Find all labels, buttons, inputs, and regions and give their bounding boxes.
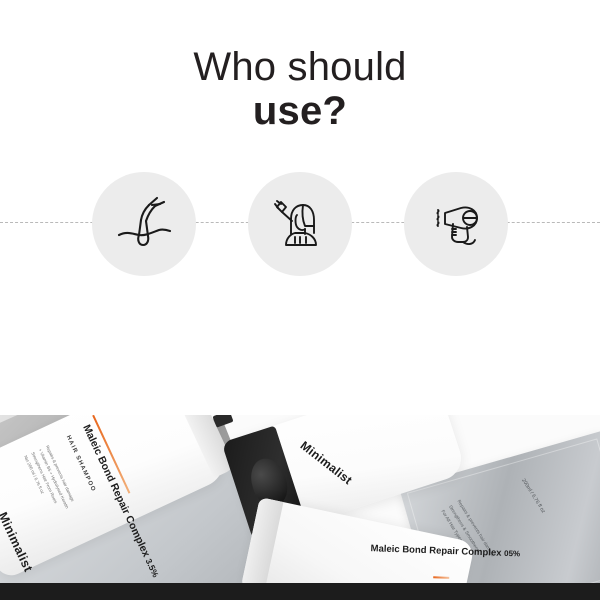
- content-panel: Who should use?: [0, 0, 600, 415]
- product-fine-print: Repairs & prevents hair damage + Vitamin…: [21, 444, 78, 517]
- page-title: Who should use?: [0, 46, 600, 132]
- page-title-line-2: use?: [0, 90, 600, 132]
- carton-size: 200ml / 6.76 fl oz: [520, 478, 546, 515]
- benefit-item-damaged-hair: looking to treat damaged & weakened hair: [64, 172, 224, 276]
- hair-colouring-woman-icon: [269, 193, 331, 255]
- hair-follicle-split-end-icon: [113, 193, 175, 255]
- brand-name: Minimalist: [0, 510, 35, 574]
- product-photo: Repairs & prevents hair damage Strengthe…: [0, 415, 600, 583]
- icon-bubble: [92, 172, 196, 276]
- hair-dryer-icon: [425, 193, 487, 255]
- label-accent-stripe: [433, 576, 449, 578]
- benefit-item-coloured-hair: have bleached, coloured or treated hair: [220, 172, 380, 276]
- brand-name: Minimalist: [298, 438, 355, 487]
- bottom-bar: [0, 583, 600, 600]
- benefit-item-heat-styling: use heat to style your hair: like blow d…: [376, 172, 536, 276]
- icon-bubble: [404, 172, 508, 276]
- page-title-line-1: Who should: [0, 46, 600, 88]
- product-percent: 05%: [504, 549, 520, 559]
- icon-bubble: [248, 172, 352, 276]
